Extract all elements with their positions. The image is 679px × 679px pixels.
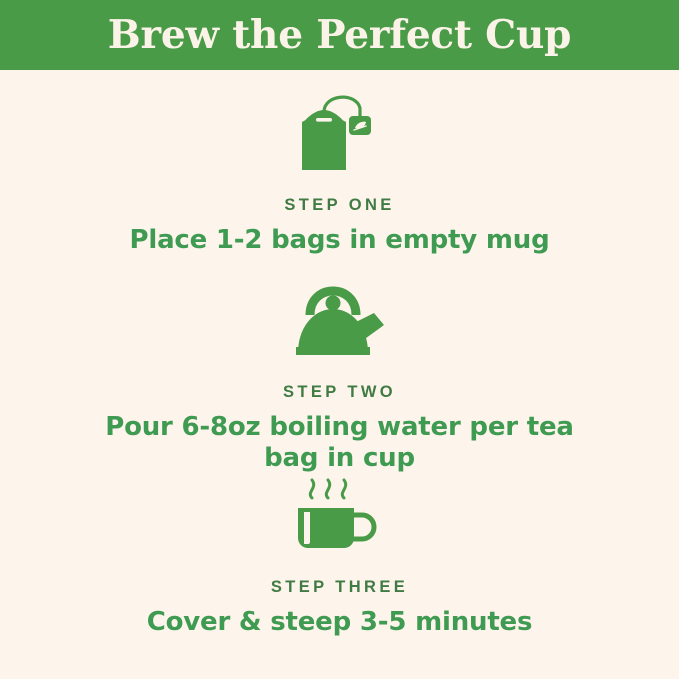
step-description-three: Cover & steep 3-5 minutes	[0, 607, 679, 638]
page-title: Brew the Perfect Cup	[108, 16, 571, 55]
steaming-mug-icon	[290, 470, 390, 556]
step-description-two: Pour 6-8oz boiling water per tea bag in …	[0, 412, 679, 473]
step-item-two: STEP TWO Pour 6-8oz boiling water per te…	[0, 275, 679, 473]
brewing-instructions-poster: Brew the Perfect Cup	[0, 0, 679, 679]
step-label-three: STEP THREE	[0, 578, 679, 597]
steps-list: STEP ONE Place 1-2 bags in empty mug STE…	[0, 70, 679, 679]
steaming-mug-icon-wrap	[0, 470, 679, 556]
tea-bag-icon	[294, 88, 386, 174]
tea-bag-icon-wrap	[0, 88, 679, 174]
step-item-three: STEP THREE Cover & steep 3-5 minutes	[0, 470, 679, 638]
step-description-one: Place 1-2 bags in empty mug	[0, 225, 679, 256]
step-label-one: STEP ONE	[0, 196, 679, 215]
step-label-two: STEP TWO	[0, 383, 679, 402]
kettle-icon	[288, 275, 392, 361]
header-band: Brew the Perfect Cup	[0, 0, 679, 70]
kettle-icon-wrap	[0, 275, 679, 361]
step-item-one: STEP ONE Place 1-2 bags in empty mug	[0, 88, 679, 256]
